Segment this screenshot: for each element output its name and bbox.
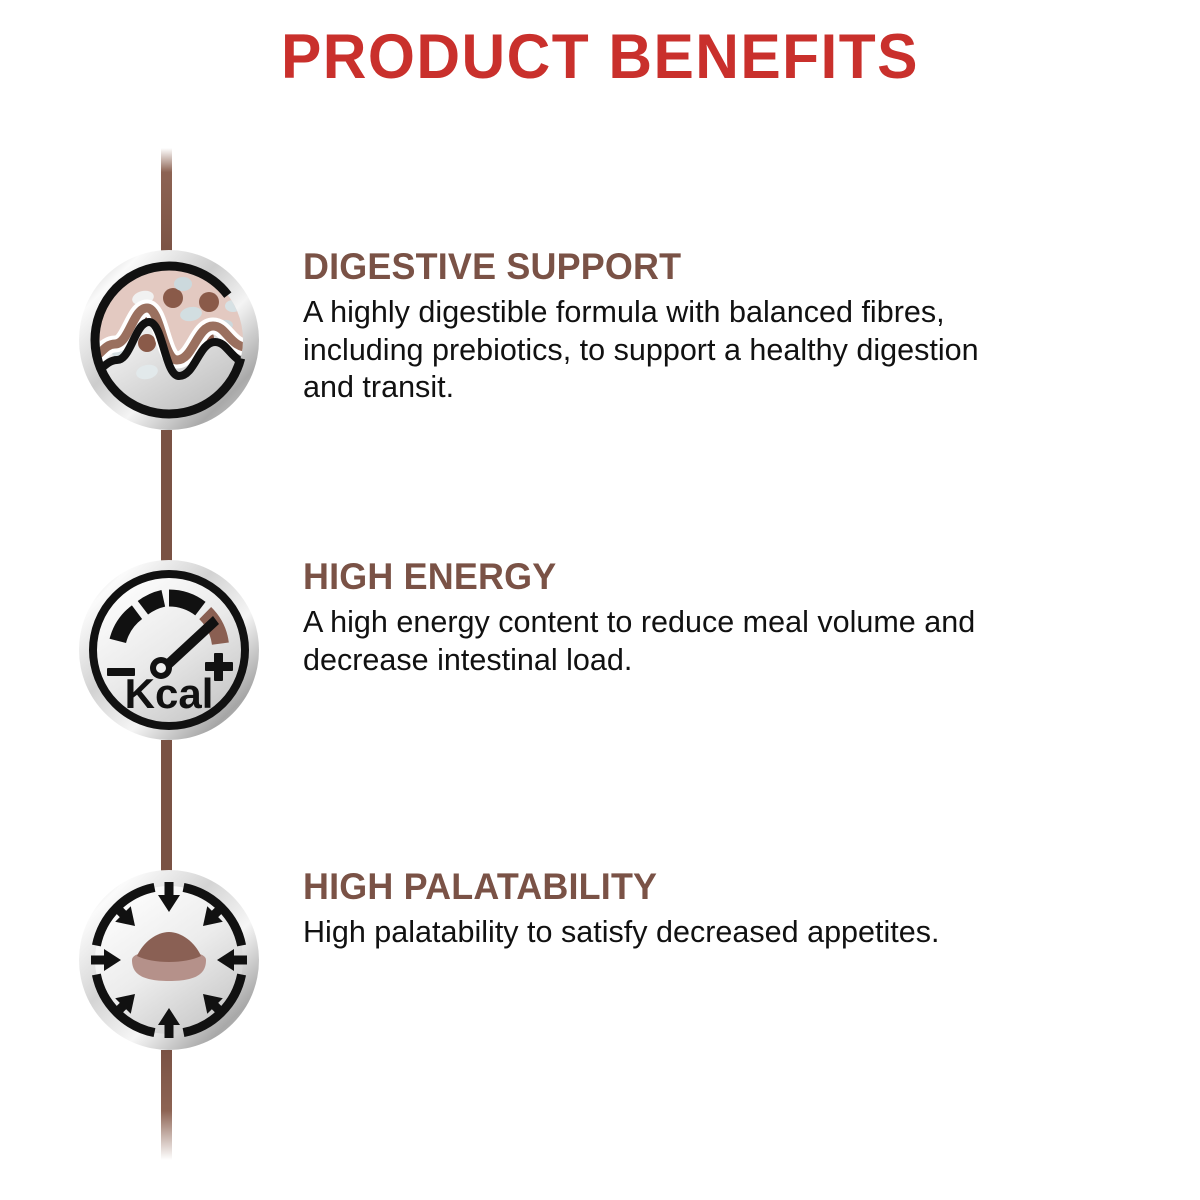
benefit-body: A high energy content to reduce meal vol… (303, 603, 1101, 679)
digestive-support-icon (77, 248, 261, 432)
high-palatability-bowl-icon (77, 868, 261, 1052)
benefit-body: A highly digestible formula with balance… (303, 293, 1101, 406)
benefit-body-line: including prebiotics, to support a healt… (303, 331, 1101, 369)
benefit-title: DIGESTIVE SUPPORT (303, 248, 1089, 287)
benefit-text-high-palatability: HIGH PALATABILITY High palatability to s… (303, 868, 1113, 951)
benefit-title: HIGH ENERGY (303, 558, 1089, 597)
timeline-spine-top (161, 148, 172, 258)
timeline-spine-bottom (161, 1050, 172, 1160)
timeline-spine-segment-1 (161, 430, 172, 570)
benefit-body-line: A highly digestible formula with balance… (303, 293, 1101, 331)
timeline-spine-segment-2 (161, 740, 172, 880)
gauge-unit-label: Kcal (125, 670, 214, 717)
benefit-body-line: High palatability to satisfy decreased a… (303, 913, 1101, 951)
benefit-text-high-energy: HIGH ENERGY A high energy content to red… (303, 558, 1113, 678)
benefit-text-digestive-support: DIGESTIVE SUPPORT A highly digestible fo… (303, 248, 1113, 406)
benefit-title: HIGH PALATABILITY (303, 868, 1089, 907)
high-energy-gauge-icon: Kcal (77, 558, 261, 742)
benefit-body: High palatability to satisfy decreased a… (303, 913, 1101, 951)
benefit-body-line: and transit. (303, 368, 1101, 406)
page-title: PRODUCT BENEFITS (24, 26, 1176, 89)
benefit-body-line: A high energy content to reduce meal vol… (303, 603, 1101, 641)
benefit-body-line: decrease intestinal load. (303, 641, 1101, 679)
